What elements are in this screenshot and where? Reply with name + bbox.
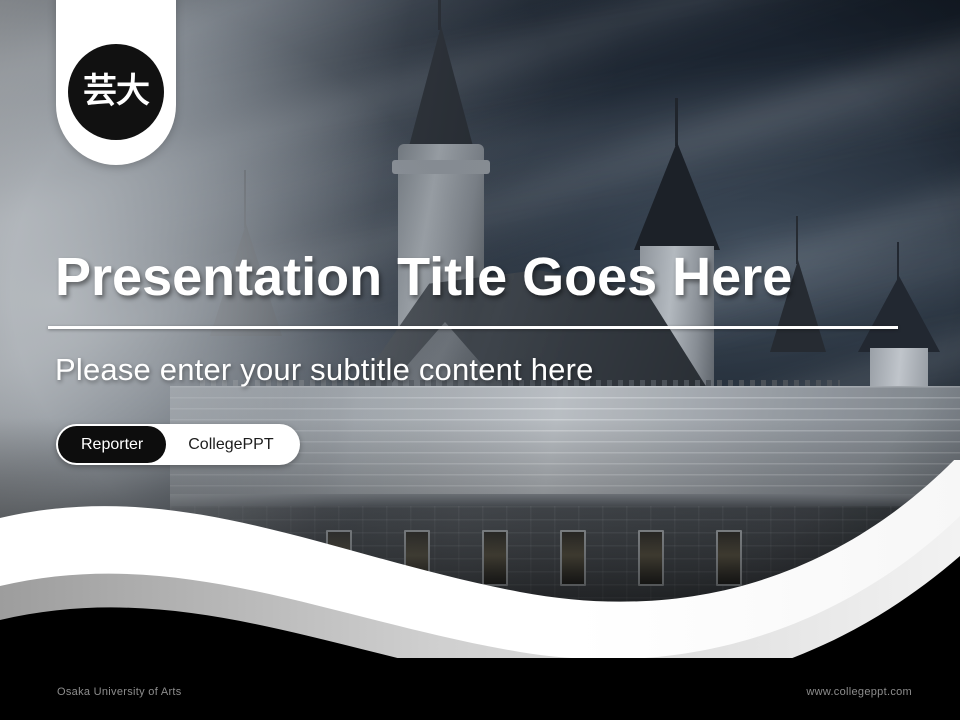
logo-kanji-text: 芸大 [83,76,149,107]
reporter-pill[interactable]: Reporter CollegePPT [56,424,300,465]
page-subtitle: Please enter your subtitle content here [55,352,594,388]
page-title: Presentation Title Goes Here [55,248,915,306]
footer-bar: Osaka University of Arts www.collegeppt.… [0,658,960,720]
footer-website-url[interactable]: www.collegeppt.com [806,686,912,698]
university-logo: 芸大 [56,0,176,165]
presentation-slide: Osaka University of Arts www.collegeppt.… [0,0,960,720]
reporter-role-badge: Reporter [58,426,166,463]
reporter-name: CollegePPT [166,436,299,454]
footer-university-name: Osaka University of Arts [57,686,182,698]
logo-emblem-icon: 芸大 [68,44,164,140]
title-divider [48,326,898,329]
